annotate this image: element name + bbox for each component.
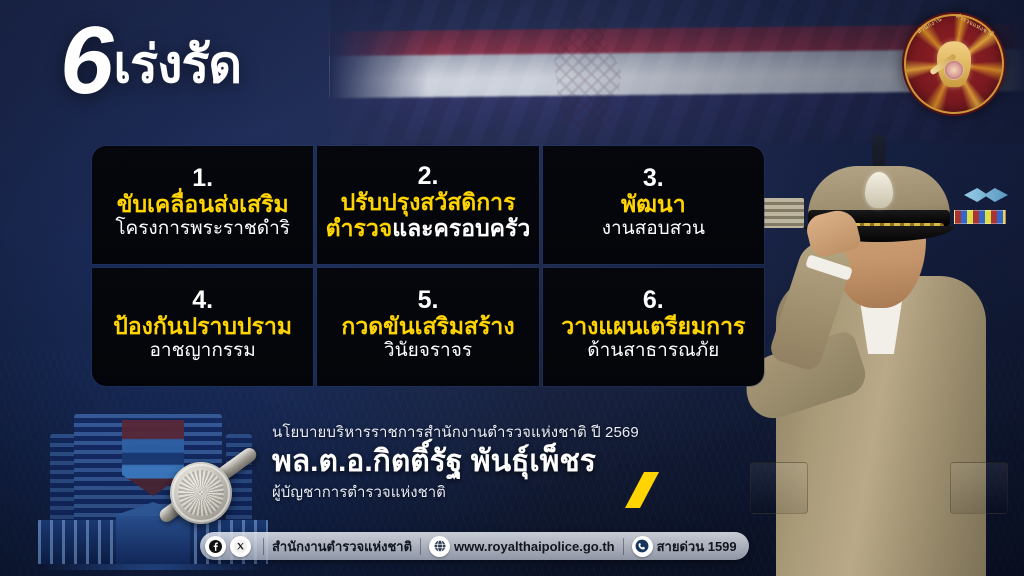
priority-number: 3.	[643, 166, 664, 191]
person-role: ผู้บัญชาการตำรวจแห่งชาติ	[272, 480, 692, 504]
footer-hotline: สายด่วน 1599	[657, 536, 737, 557]
priority-main-white: และครอบครัว	[392, 215, 530, 241]
person-name: พล.ต.อ.กิตติ์รัฐ พันธุ์เพ็ชร	[272, 445, 692, 479]
priority-number: 1.	[192, 166, 213, 191]
footer-contact-bar: สำนักงานตำรวจแห่งชาติ www.royalthaipolic…	[200, 532, 749, 560]
priority-number: 4.	[192, 288, 213, 313]
priority-main-text: กวดขันเสริมสร้าง	[341, 314, 514, 340]
footer-divider	[263, 538, 264, 555]
officer-pocket-left	[750, 462, 808, 514]
footer-website[interactable]: www.royalthaipolice.go.th	[454, 539, 615, 554]
priority-sub-text: โครงการพระราชดำริ	[115, 218, 290, 240]
priority-item-6[interactable]: 6. วางแผนเตรียมการ ด้านสาธารณภัย	[543, 268, 764, 386]
infographic-poster: สำนักงาน ตำรวจแห่งชาติ 6 เร่งรัด 1. ขับเ…	[0, 0, 1024, 576]
building-portico	[116, 514, 190, 564]
priority-item-5[interactable]: 5. กวดขันเสริมสร้าง วินัยจราจร	[317, 268, 538, 386]
page-title: 6 เร่งรัด	[60, 22, 241, 101]
priority-item-1[interactable]: 1. ขับเคลื่อนส่งเสริม โครงการพระราชดำริ	[92, 146, 313, 264]
building-left-wing	[50, 434, 76, 526]
emblem-ring	[904, 14, 1004, 114]
priority-sub-text: อาชญากรรม	[150, 340, 256, 362]
priority-main-text: ขับเคลื่อนส่งเสริม	[117, 192, 289, 218]
priority-item-4[interactable]: 4. ป้องกันปราบปราม อาชญากรรม	[92, 268, 313, 386]
priority-item-2[interactable]: 2. ปรับปรุงสวัสดิการ ตำรวจและครอบครัว	[317, 146, 538, 264]
priority-number: 2.	[418, 164, 439, 189]
priority-item-3[interactable]: 3. พัฒนา งานสอบสวน	[543, 146, 764, 264]
facebook-icon[interactable]	[205, 536, 226, 557]
footer-divider	[420, 538, 421, 555]
priority-sub-text: ด้านสาธารณภัย	[587, 340, 719, 362]
royal-thai-police-emblem-icon: สำนักงาน ตำรวจแห่งชาติ	[902, 12, 1006, 116]
title-number: 6	[60, 22, 109, 101]
priority-main-text: วางแผนเตรียมการ	[561, 314, 745, 340]
priority-main-text: พัฒนา	[621, 192, 686, 218]
police-medallion-icon	[170, 462, 232, 524]
six-priorities-grid: 1. ขับเคลื่อนส่งเสริม โครงการพระราชดำริ …	[92, 146, 764, 386]
priority-main-text-line2: ตำรวจและครอบครัว	[326, 216, 531, 242]
priority-sub-text: งานสอบสวน	[602, 218, 705, 240]
officer-cap-badge	[865, 172, 893, 208]
officer-pocket-right	[950, 462, 1008, 514]
priority-main-yellow: ตำรวจ	[326, 215, 393, 241]
priority-main-text: ป้องกันปราบปราม	[113, 314, 292, 340]
priority-main-text: ปรับปรุงสวัสดิการ	[341, 190, 516, 216]
title-word: เร่งรัด	[113, 39, 241, 101]
priority-sub-text: วินัยจราจร	[384, 340, 472, 362]
footer-divider	[623, 538, 624, 555]
priority-number: 5.	[418, 288, 439, 313]
officer-wing-insignia	[964, 188, 1008, 202]
name-block: นโยบายบริหารราชการสำนักงานตำรวจแห่งชาติ …	[272, 420, 692, 504]
footer-org-name: สำนักงานตำรวจแห่งชาติ	[272, 536, 412, 557]
officer-ribbon-bar	[954, 210, 1006, 224]
priority-number: 6.	[643, 288, 664, 313]
x-twitter-icon[interactable]	[230, 536, 251, 557]
globe-icon[interactable]	[429, 536, 450, 557]
saluting-police-officer-photo	[734, 106, 1024, 576]
phone-icon[interactable]	[632, 536, 653, 557]
policy-line: นโยบายบริหารราชการสำนักงานตำรวจแห่งชาติ …	[272, 420, 692, 444]
